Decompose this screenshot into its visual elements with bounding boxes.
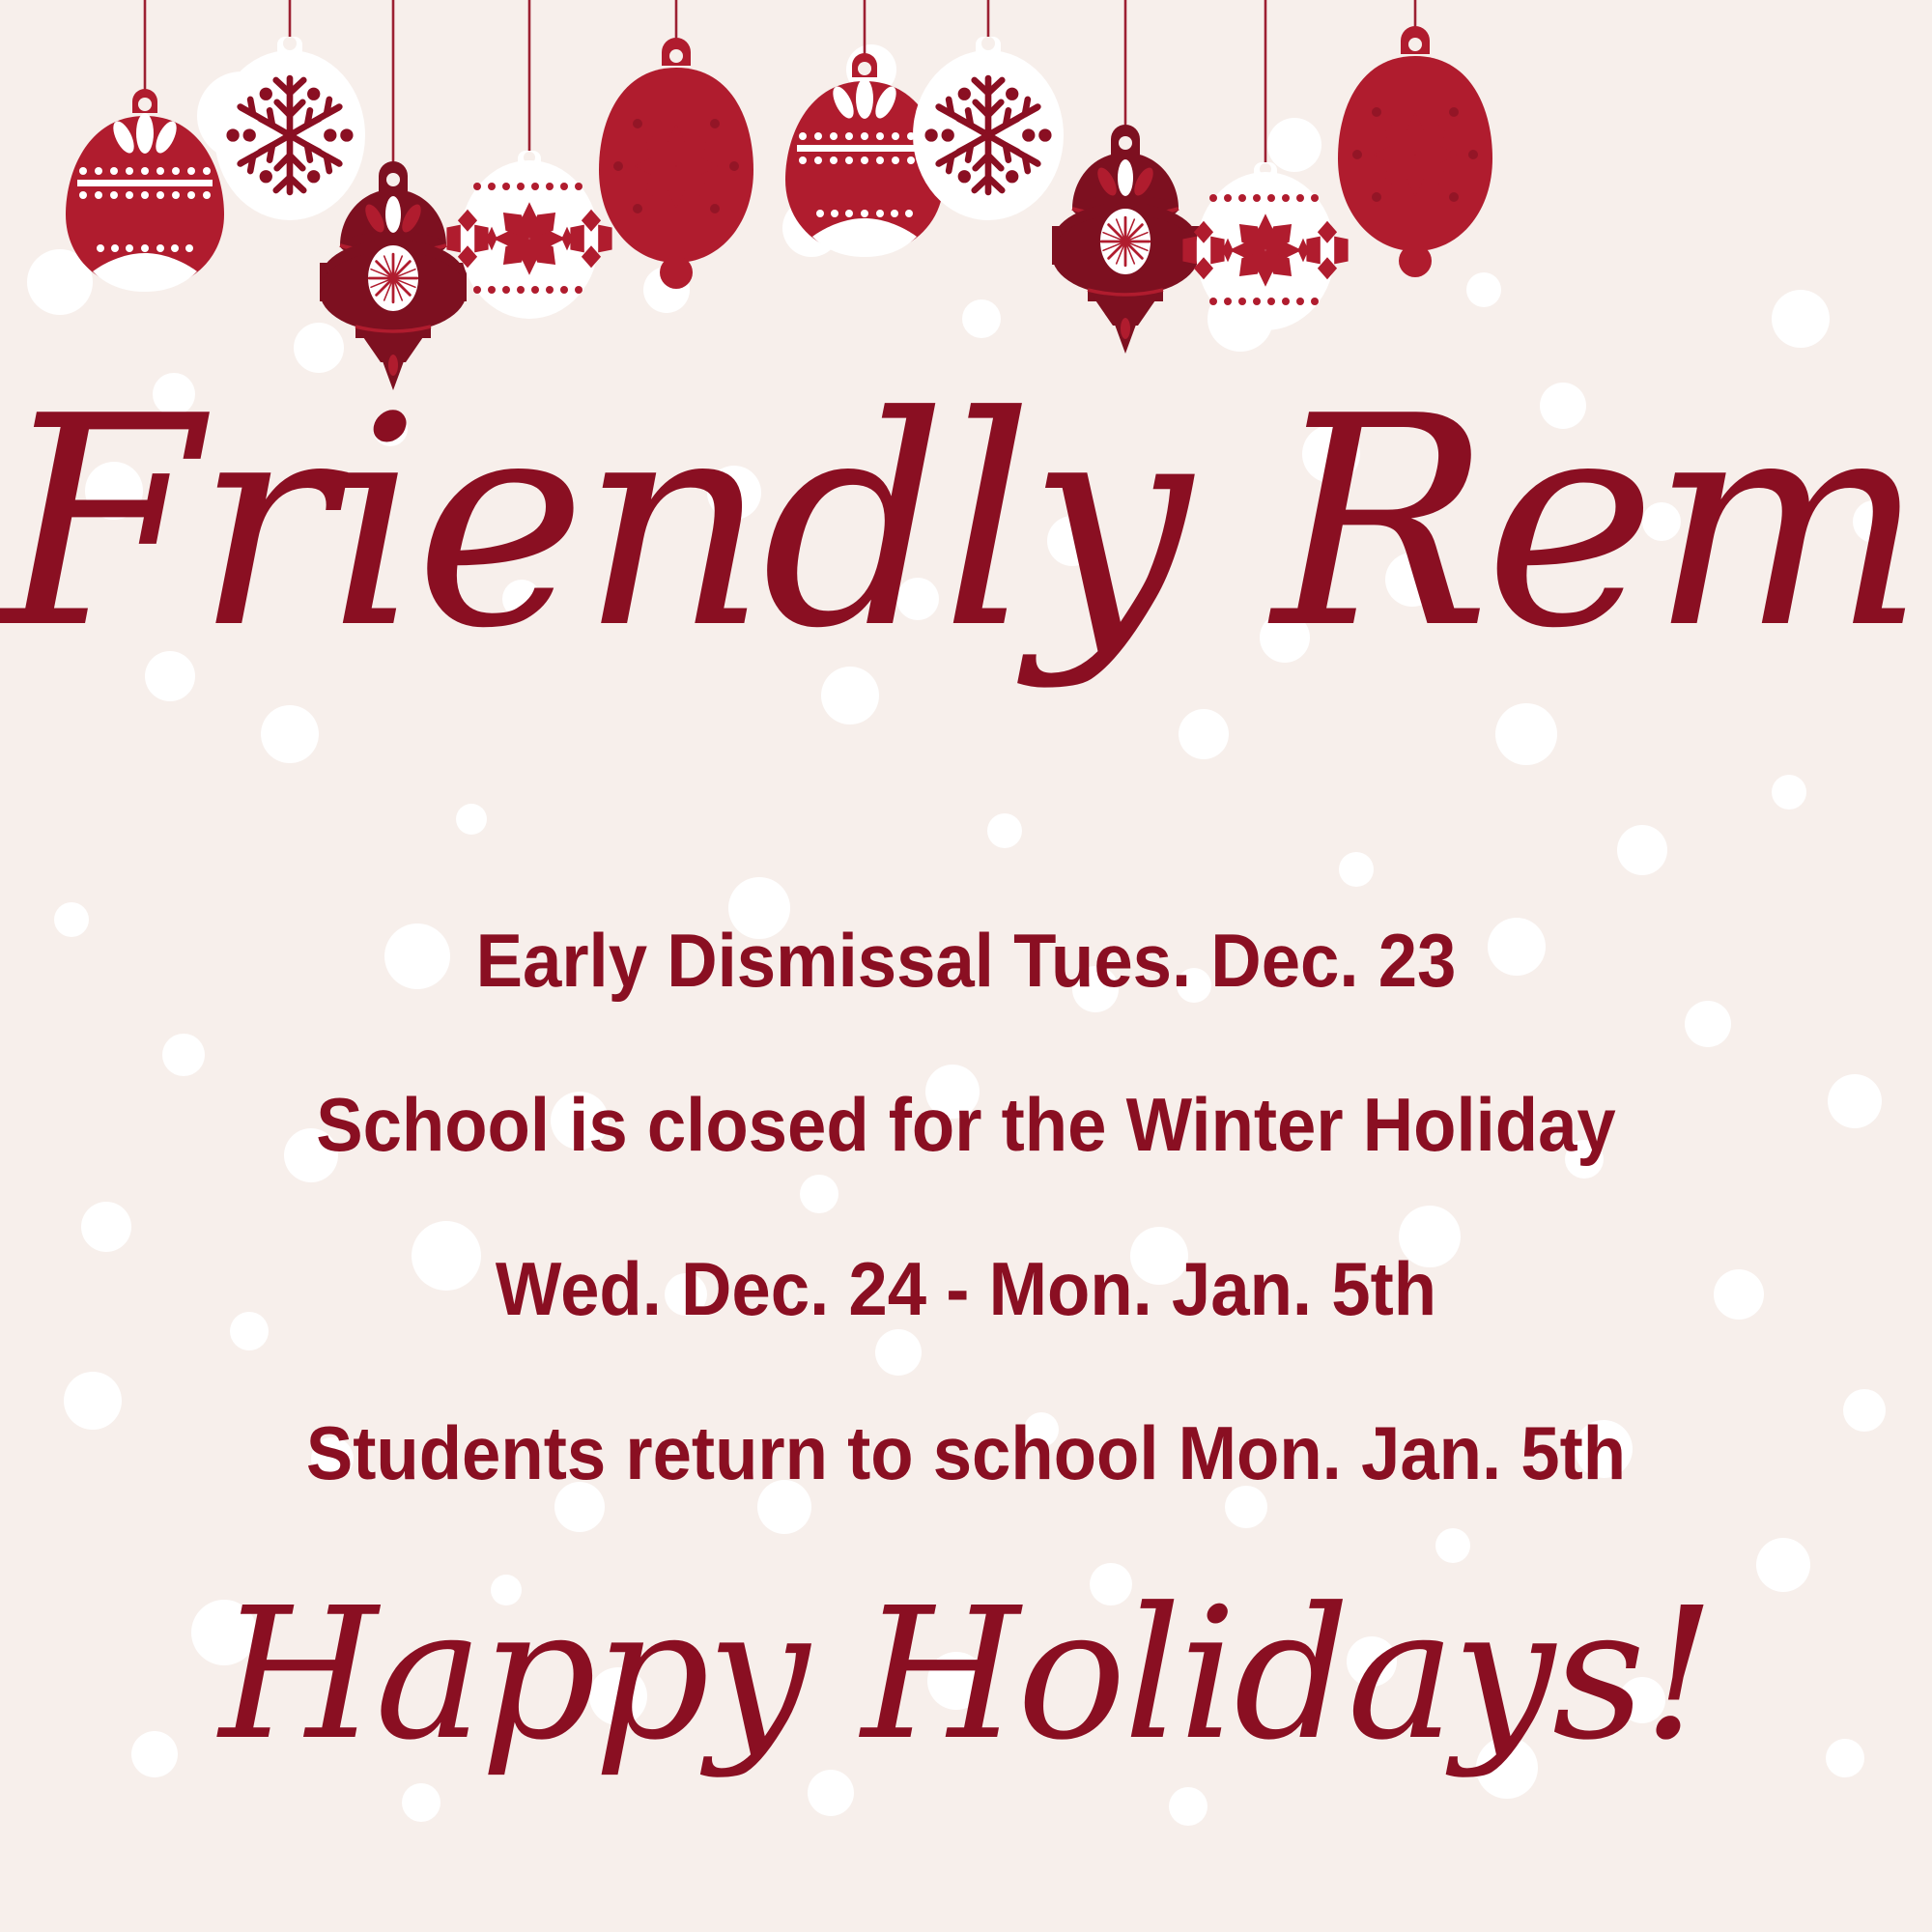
signoff-message: Happy Holidays! (0, 1584, 1932, 1766)
bokeh-dot (284, 1128, 338, 1182)
ornament-red-star-teardrop-1 (599, 38, 753, 289)
bokeh-dot (191, 1600, 257, 1665)
bokeh-dot (1575, 1420, 1633, 1478)
bokeh-dot (311, 1437, 354, 1480)
ornament-white-nordic-1 (446, 151, 611, 319)
bokeh-dot (551, 1092, 609, 1150)
bokeh-dot (589, 1667, 647, 1725)
ornament-white-snowflake-1 (214, 37, 365, 220)
bokeh-dot (402, 1783, 440, 1822)
ornament-dark-red-lantern-2 (1052, 125, 1199, 354)
announcement-body: Early Dismissal Tues. Dec. 23 School is … (0, 923, 1932, 1491)
bokeh-dot (808, 1770, 854, 1816)
bokeh-dot (927, 1652, 985, 1710)
ornament-illustration (0, 0, 1932, 454)
bokeh-dot (1619, 1677, 1665, 1723)
bokeh-dot (800, 1175, 838, 1213)
holiday-announcement-poster: Friendly Reminder Early Dismissal Tues. … (0, 0, 1932, 1932)
bokeh-dot (1047, 516, 1097, 566)
bokeh-dot (456, 804, 487, 835)
ornament-red-banded-teardrop-1 (66, 89, 224, 292)
bokeh-dot (54, 902, 89, 937)
announcement-line-4: Students return to school Mon. Jan. 5th (68, 1415, 1864, 1491)
bokeh-dot (554, 1482, 605, 1532)
bokeh-dot (131, 1731, 178, 1777)
announcement-line-3: Wed. Dec. 24 - Mon. Jan. 5th (68, 1251, 1864, 1326)
bokeh-dot (925, 1065, 980, 1119)
bokeh-dot (987, 813, 1022, 848)
bokeh-dot (1476, 1737, 1538, 1799)
bokeh-dot (1843, 1389, 1886, 1432)
bokeh-dot (1488, 918, 1546, 976)
ornament-red-star-teardrop-2 (1338, 26, 1492, 277)
announcement-line-1: Early Dismissal Tues. Dec. 23 (68, 923, 1864, 998)
bokeh-dot (707, 466, 761, 520)
bokeh-dot (1826, 1739, 1864, 1777)
bokeh-dot (1130, 1227, 1188, 1285)
bokeh-dot (1339, 852, 1374, 887)
bokeh-dot (1714, 1269, 1764, 1320)
bokeh-dot (1347, 1636, 1397, 1687)
bokeh-dot (1177, 968, 1211, 1003)
bokeh-dot (1853, 500, 1895, 543)
bokeh-dot (1828, 1074, 1882, 1128)
bokeh-dot (1399, 1206, 1461, 1267)
bokeh-dot (1169, 1787, 1207, 1826)
ornament-border (0, 0, 1932, 454)
announcement-line-2: School is closed for the Winter Holiday (68, 1087, 1864, 1162)
bokeh-dot (1565, 1140, 1604, 1179)
ornament-white-snowflake-2 (913, 37, 1064, 220)
bokeh-dot (261, 705, 319, 763)
bokeh-dot (1072, 966, 1119, 1012)
bokeh-dot (875, 1329, 922, 1376)
bokeh-dot (81, 1202, 131, 1252)
bokeh-dot (412, 1221, 481, 1291)
bokeh-dot (1090, 1563, 1132, 1605)
bokeh-dot (1260, 612, 1310, 663)
bokeh-dot (728, 877, 790, 939)
bokeh-dot (1617, 825, 1667, 875)
bokeh-dot (757, 1480, 811, 1534)
bokeh-dot (1642, 502, 1681, 541)
bokeh-dot (1179, 709, 1229, 759)
bokeh-dot (1385, 553, 1439, 607)
bokeh-dot (145, 651, 195, 701)
bokeh-dot (384, 923, 450, 989)
bokeh-dot (85, 462, 143, 520)
bokeh-dot (64, 1372, 122, 1430)
bokeh-dot (1495, 703, 1557, 765)
bokeh-dot (1772, 775, 1806, 810)
bokeh-dot (1435, 1528, 1470, 1563)
bokeh-dot (665, 1273, 707, 1316)
bokeh-dot (162, 1034, 205, 1076)
bokeh-dot (1225, 1486, 1267, 1528)
bokeh-dot (1024, 1412, 1059, 1447)
bokeh-dot (230, 1312, 269, 1350)
bokeh-dot (502, 580, 541, 618)
bokeh-dot (1756, 1538, 1810, 1592)
bokeh-dot (1685, 1001, 1731, 1047)
bokeh-dot (491, 1575, 522, 1605)
ornament-white-nordic-2 (1182, 162, 1348, 330)
bokeh-dot (896, 578, 939, 620)
bokeh-dot (821, 667, 879, 724)
